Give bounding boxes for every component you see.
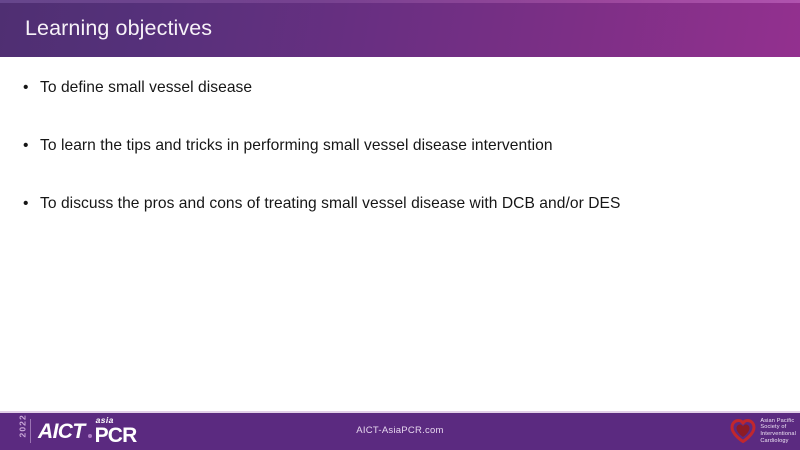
society-line-1: Asian Pacific <box>760 418 796 425</box>
list-item: • To discuss the pros and cons of treati… <box>0 194 800 214</box>
society-line-2: Society of <box>760 424 796 431</box>
bullet-point-icon: • <box>23 136 29 156</box>
list-item-label: To discuss the pros and cons of treating… <box>40 195 620 212</box>
apsic-society-logo: Asian Pacific Society of Interventional … <box>730 415 796 447</box>
bullet-point-icon: • <box>23 194 29 214</box>
learning-objectives-list: • To define small vessel disease • To le… <box>0 57 800 214</box>
society-name-text: Asian Pacific Society of Interventional … <box>760 418 796 444</box>
header-top-highlight <box>0 0 800 3</box>
society-line-4: Cardiology <box>760 438 796 445</box>
list-item: • To define small vessel disease <box>0 78 800 98</box>
list-item-label: To learn the tips and tricks in performi… <box>40 137 553 154</box>
heart-icon <box>730 419 756 443</box>
list-item: • To learn the tips and tricks in perfor… <box>0 136 800 156</box>
slide: Learning objectives • To define small ve… <box>0 0 800 450</box>
bullet-point-icon: • <box>23 78 29 98</box>
footer-website-url: AICT-AsiaPCR.com <box>0 411 800 450</box>
society-line-3: Interventional <box>760 431 796 438</box>
list-item-label: To define small vessel disease <box>40 79 252 96</box>
slide-body: • To define small vessel disease • To le… <box>0 57 800 411</box>
slide-title: Learning objectives <box>25 16 212 41</box>
slide-header-band: Learning objectives <box>0 0 800 57</box>
slide-footer-band: 2022 AICT asia PCR AICT-AsiaPCR.com Asia… <box>0 411 800 450</box>
